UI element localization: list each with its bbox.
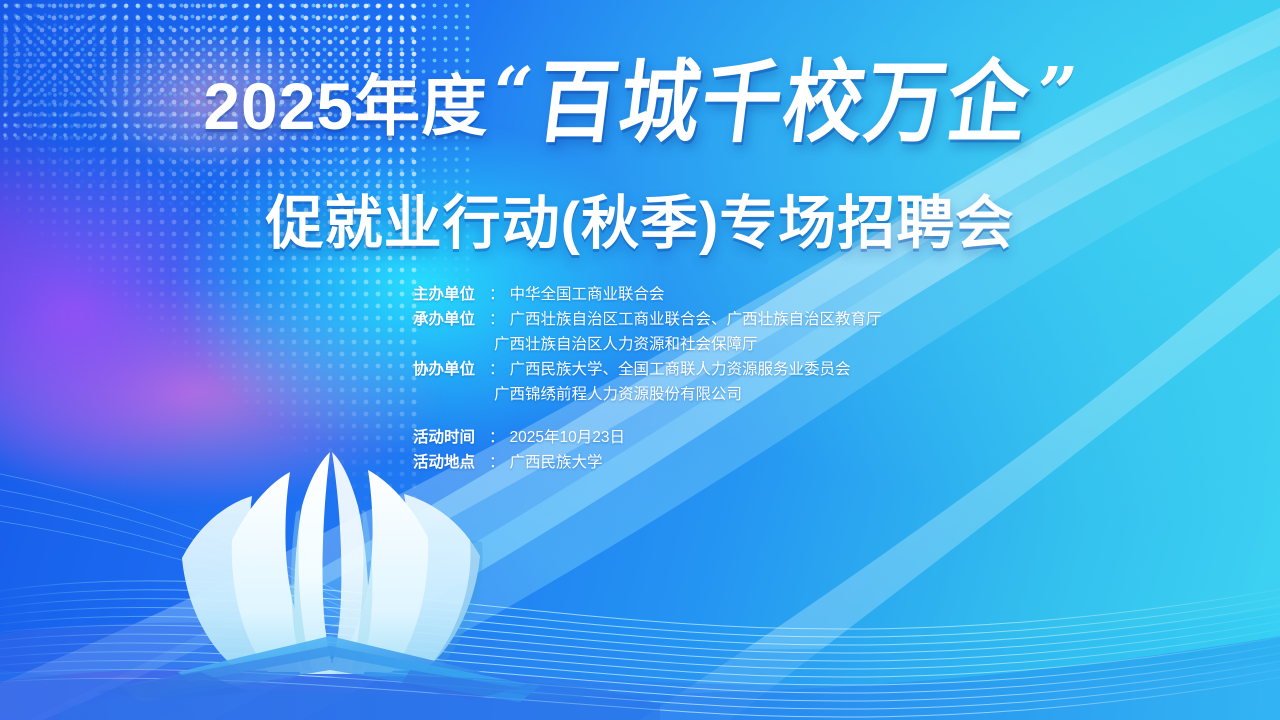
host-label: 主办单位	[413, 282, 489, 307]
place-value: 广西民族大学	[510, 450, 933, 475]
place-label: 活动地点	[413, 450, 489, 475]
organizer-label: 承办单位	[413, 307, 489, 332]
coorganizer-colon: ：	[489, 357, 510, 382]
info-block: 主办单位 ： 中华全国工商业联合会 承办单位 ： 广西壮族自治区工商业联合会、广…	[413, 282, 933, 475]
host-value: 中华全国工商业联合会	[510, 282, 933, 307]
close-quote-mark: ”	[1033, 58, 1081, 128]
title-brush-phrase: 百城千校万企	[531, 57, 1038, 147]
time-colon: ：	[489, 425, 510, 450]
place-colon: ：	[489, 450, 510, 475]
time-label: 活动时间	[413, 425, 489, 450]
organizer-value: 广西壮族自治区工商业联合会、广西壮族自治区教育厅	[510, 307, 933, 332]
coorganizer-value: 广西民族大学、全国工商联人力资源服务业委员会	[510, 357, 933, 382]
info-row-organizer: 承办单位 ： 广西壮族自治区工商业联合会、广西壮族自治区教育厅	[413, 307, 933, 332]
organizer-colon: ：	[489, 307, 510, 332]
open-quote-mark: “	[488, 58, 536, 128]
coorganizer-label: 协办单位	[413, 357, 489, 382]
organizer-value-line2: 广西壮族自治区人力资源和社会保障厅	[413, 332, 933, 357]
poster-canvas: 2025年度 “ 百城千校万企 ” 促就业行动(秋季)专场招聘会 主办单位 ： …	[0, 0, 1280, 720]
info-row-place: 活动地点 ： 广西民族大学	[413, 450, 933, 475]
coorganizer-value-line2: 广西锦绣前程人力资源股份有限公司	[413, 382, 933, 407]
info-spacer	[413, 408, 933, 425]
info-row-host: 主办单位 ： 中华全国工商业联合会	[413, 282, 933, 307]
main-title: 2025年度 “ 百城千校万企 ”	[0, 62, 1280, 142]
info-row-time: 活动时间 ： 2025年10月23日	[413, 425, 933, 450]
time-value: 2025年10月23日	[510, 425, 933, 450]
subtitle: 促就业行动(秋季)专场招聘会	[0, 176, 1280, 260]
info-row-coorganizer: 协办单位 ： 广西民族大学、全国工商联人力资源服务业委员会	[413, 357, 933, 382]
title-year: 2025年度	[203, 73, 488, 142]
poster-content: 2025年度 “ 百城千校万企 ” 促就业行动(秋季)专场招聘会 主办单位 ： …	[0, 0, 1280, 720]
host-colon: ：	[489, 282, 510, 307]
